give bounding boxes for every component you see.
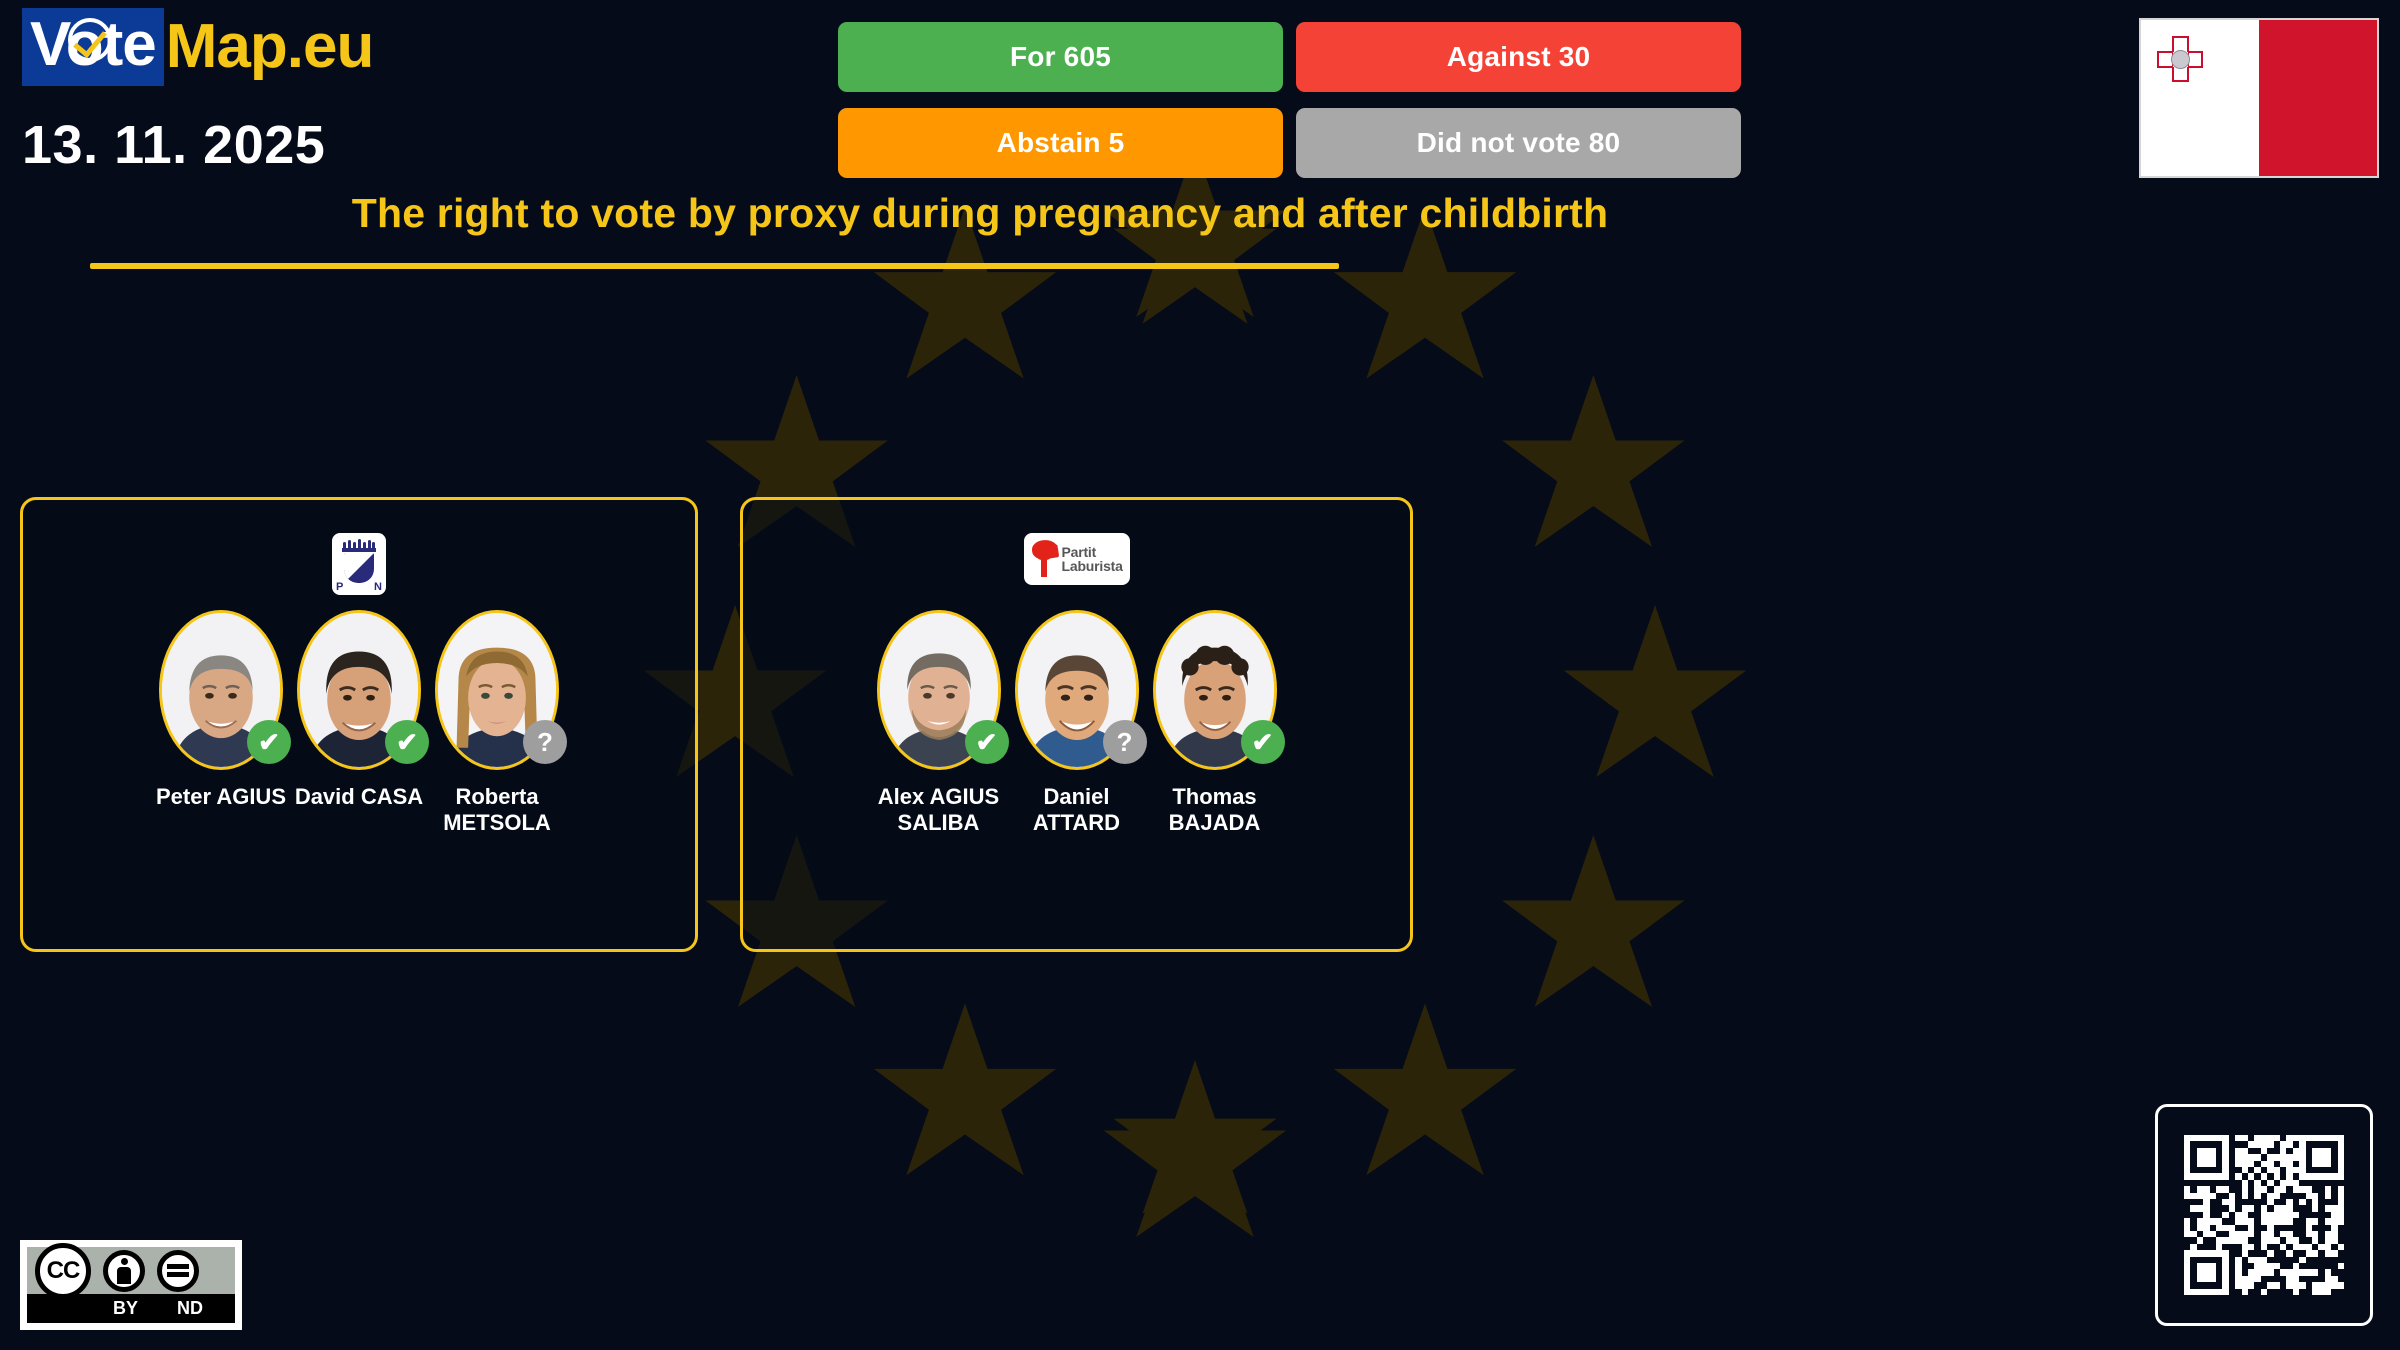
member-list-pn: ✔ Peter AGIUS xyxy=(23,610,695,836)
cc-label-by: BY xyxy=(113,1298,138,1319)
no-derivatives-equals-icon xyxy=(157,1250,199,1292)
george-cross-emblem xyxy=(2157,36,2203,82)
pl-text-line2: Laburista xyxy=(1062,559,1123,573)
qr-code-modules xyxy=(2184,1135,2344,1295)
member-name: Daniel ATTARD xyxy=(1033,784,1120,836)
member-name: David CASA xyxy=(295,784,423,810)
member-name: Thomas BAJADA xyxy=(1169,784,1261,836)
pl-text-line1: Partit xyxy=(1062,545,1123,559)
vote-badge-for: ✔ xyxy=(1241,720,1285,764)
cc-label-nd: ND xyxy=(177,1298,203,1319)
tally-abstain[interactable]: Abstain 5 xyxy=(838,108,1283,178)
title-underline xyxy=(90,263,1339,269)
check-icon xyxy=(68,18,112,62)
member-name: Roberta METSOLA xyxy=(443,784,551,836)
crown-icon xyxy=(342,541,376,552)
partit-laburista-logo: Partit Laburista xyxy=(1024,533,1130,585)
member-card[interactable]: ✔ Alex AGIUS SALIBA xyxy=(870,610,1008,836)
cc-by-nd-badge[interactable]: CC BY ND xyxy=(20,1240,242,1330)
logo-map-text: Map.eu xyxy=(164,16,374,78)
member-card[interactable]: ? Roberta METSOLA xyxy=(428,610,566,836)
pn-letter-n: N xyxy=(374,582,382,593)
vote-badge-did-not-vote: ? xyxy=(523,720,567,764)
member-card[interactable]: ✔ Thomas BAJADA xyxy=(1146,610,1284,836)
cc-icon: CC xyxy=(35,1243,91,1299)
tally-against[interactable]: Against 30 xyxy=(1296,22,1741,92)
vote-badge-for: ✔ xyxy=(385,720,429,764)
member-name: Alex AGIUS SALIBA xyxy=(878,784,999,836)
vote-tallies: For 605 Against 30 Abstain 5 Did not vot… xyxy=(838,22,1290,178)
tally-for[interactable]: For 605 xyxy=(838,22,1283,92)
votemap-poster: Vote Map.eu 13. 11. 2025 For 605 Against… xyxy=(0,0,2400,1350)
member-card[interactable]: ✔ Peter AGIUS xyxy=(152,610,290,836)
site-logo[interactable]: Vote Map.eu xyxy=(22,8,373,86)
malta-flag-icon xyxy=(2139,18,2379,178)
qr-code[interactable] xyxy=(2155,1104,2373,1326)
tally-did-not-vote[interactable]: Did not vote 80 xyxy=(1296,108,1741,178)
vote-badge-for: ✔ xyxy=(247,720,291,764)
member-card[interactable]: ? Daniel ATTARD xyxy=(1008,610,1146,836)
vote-badge-did-not-vote: ? xyxy=(1103,720,1147,764)
vote-date: 13. 11. 2025 xyxy=(22,114,325,176)
member-name: Peter AGIUS xyxy=(156,784,286,810)
partit-nazzjonalista-logo: P N xyxy=(332,533,386,595)
party-card-pl: Partit Laburista xyxy=(740,497,1413,952)
attribution-person-icon xyxy=(103,1250,145,1292)
vote-title: The right to vote by proxy during pregna… xyxy=(0,190,1960,237)
shield-icon xyxy=(344,553,374,583)
pn-letter-p: P xyxy=(336,582,343,593)
torch-icon xyxy=(1030,539,1060,579)
vote-badge-for: ✔ xyxy=(965,720,1009,764)
member-list-pl: ✔ Alex AGIUS SALIBA xyxy=(743,610,1410,836)
member-card[interactable]: ✔ David CASA xyxy=(290,610,428,836)
party-card-pn: P N xyxy=(20,497,698,952)
